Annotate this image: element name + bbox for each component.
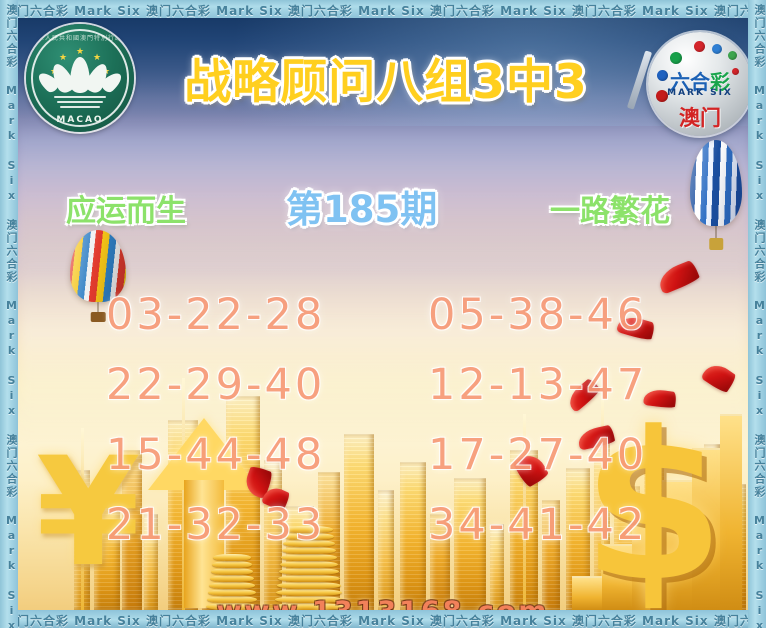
emblem-country-label: MACAO — [26, 115, 134, 125]
number-row: 15-44-48 17-27-40 — [88, 428, 688, 498]
lotus-flower-icon — [49, 55, 111, 93]
subtitle-right: 一路繁花 — [550, 186, 670, 230]
issue-period-label: 第185期 — [286, 179, 437, 233]
number-set-left: 15-44-48 — [106, 428, 325, 482]
watermark-band-right: 澳门六合彩 Mark Six 澳门六合彩 Mark Six 澳门六合彩 Mark… — [748, 0, 766, 628]
number-set-right: 12-13-47 — [428, 358, 647, 412]
watermark-band-top: 澳门六合彩 Mark Six 澳门六合彩 Mark Six 澳门六合彩 Mark… — [0, 0, 766, 18]
lottery-ball-icon — [728, 51, 737, 60]
watermark-text: 澳门六合彩 Mark Six 澳门六合彩 Mark Six 澳门六合彩 Mark… — [4, 612, 766, 628]
watermark-text: 澳门六合彩 Mark Six 澳门六合彩 Mark Six 澳门六合彩 Mark… — [3, 4, 18, 628]
watermark-text: 澳门六合彩 Mark Six 澳门六合彩 Mark Six 澳门六合彩 Mark… — [4, 2, 766, 18]
watermark-band-left: 澳门六合彩 Mark Six 澳门六合彩 Mark Six 澳门六合彩 Mark… — [0, 0, 18, 628]
mark-six-logo: 六合彩 MARK SIX 澳门 — [648, 32, 748, 136]
subtitle-left: 应运而生 — [66, 186, 186, 230]
number-row: 22-29-40 12-13-47 — [88, 358, 688, 428]
number-set-right: 05-38-46 — [428, 288, 647, 342]
lottery-poster: ¥ — [0, 0, 766, 628]
lottery-ball-icon — [670, 52, 682, 64]
number-set-left: 21-32-33 — [106, 498, 325, 552]
site-url: www.1313168.com — [18, 596, 748, 610]
number-set-left: 22-29-40 — [106, 358, 325, 412]
number-set-right: 34-41-42 — [428, 498, 647, 552]
mark-six-region-label: 澳门 — [648, 102, 748, 132]
macau-sar-emblem: 中華人民共和國澳門特別行政區 ★ ★ ★ ★ ★ MACAO — [26, 24, 134, 132]
number-grid: 03-22-28 05-38-46 22-29-40 12-13-47 15-4… — [88, 288, 688, 568]
watermark-band-bottom: 澳门六合彩 Mark Six 澳门六合彩 Mark Six 澳门六合彩 Mark… — [0, 610, 766, 628]
number-row: 03-22-28 05-38-46 — [88, 288, 688, 358]
lottery-ball-icon — [694, 41, 705, 52]
watermark-text: 澳门六合彩 Mark Six 澳门六合彩 Mark Six 澳门六合彩 Mark… — [751, 4, 766, 628]
lottery-ball-icon — [712, 44, 722, 54]
poster-canvas: ¥ — [18, 18, 748, 610]
number-row: 21-32-33 34-41-42 — [88, 498, 688, 568]
number-set-left: 03-22-28 — [106, 288, 325, 342]
hot-air-balloon-right — [690, 140, 742, 250]
mark-six-en-label: MARK SIX — [648, 88, 748, 98]
emblem-arc-text: 中華人民共和國澳門特別行政區 — [26, 33, 134, 42]
page-title: 战略顾问八组3中3 — [146, 52, 626, 114]
number-set-right: 17-27-40 — [428, 428, 647, 482]
